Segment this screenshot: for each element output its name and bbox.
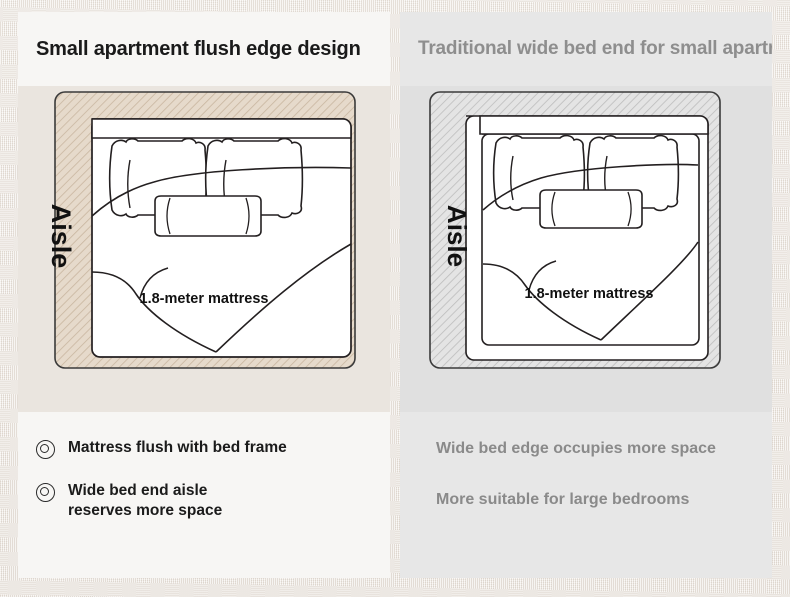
mattress-size-label: 1.8-meter mattress: [140, 291, 269, 307]
panel-left-feature-list: Mattress flush with bed frame Wide bed e…: [18, 412, 390, 578]
panel-right-header: Traditional wide bed end for small apart…: [400, 12, 772, 86]
feature-item: Wide bed end aisle reserves more space: [36, 481, 372, 522]
aisle-label: Aisle: [442, 205, 472, 267]
feature-label: Wide bed edge occupies more space: [436, 438, 716, 459]
panel-left-header: Small apartment flush edge design: [18, 12, 390, 86]
panel-small-apartment: Small apartment flush edge design: [18, 12, 390, 578]
feature-item: Mattress flush with bed frame: [36, 438, 372, 459]
panel-right-diagram-area: Aisle 1.8-meter matt: [400, 86, 772, 412]
feature-label: Wide bed end aisle reserves more space: [68, 481, 222, 522]
headboard: [92, 119, 351, 138]
ring-bullet-icon: [36, 440, 55, 459]
feature-label-line1: Wide bed end aisle: [68, 482, 207, 499]
panel-right-feature-list: Wide bed edge occupies more space More s…: [400, 412, 772, 578]
mattress-size-label: 1.8-meter mattress: [525, 286, 654, 302]
comparison-infographic: Small apartment flush edge design: [0, 0, 790, 597]
bed-diagram-flush-edge: Aisle: [18, 86, 390, 412]
panel-right-title: Traditional wide bed end for small apart…: [418, 38, 772, 61]
bed-diagram-wide-bed-end: Aisle 1.8-meter matt: [400, 86, 772, 412]
bolster-cushion: [540, 190, 642, 228]
aisle-label: Aisle: [46, 204, 76, 269]
feature-label: More suitable for large bedrooms: [436, 489, 689, 510]
headboard: [480, 116, 708, 134]
feature-label: Mattress flush with bed frame: [68, 438, 287, 458]
feature-item: Wide bed edge occupies more space: [418, 438, 754, 459]
feature-label-line2: reserves more space: [68, 501, 222, 521]
feature-item: More suitable for large bedrooms: [418, 489, 754, 510]
ring-bullet-icon: [36, 483, 55, 502]
panel-traditional-wide: Traditional wide bed end for small apart…: [400, 12, 772, 578]
panel-left-title: Small apartment flush edge design: [36, 37, 361, 61]
bolster-cushion: [155, 196, 261, 236]
panel-left-diagram-area: Aisle: [18, 86, 390, 412]
